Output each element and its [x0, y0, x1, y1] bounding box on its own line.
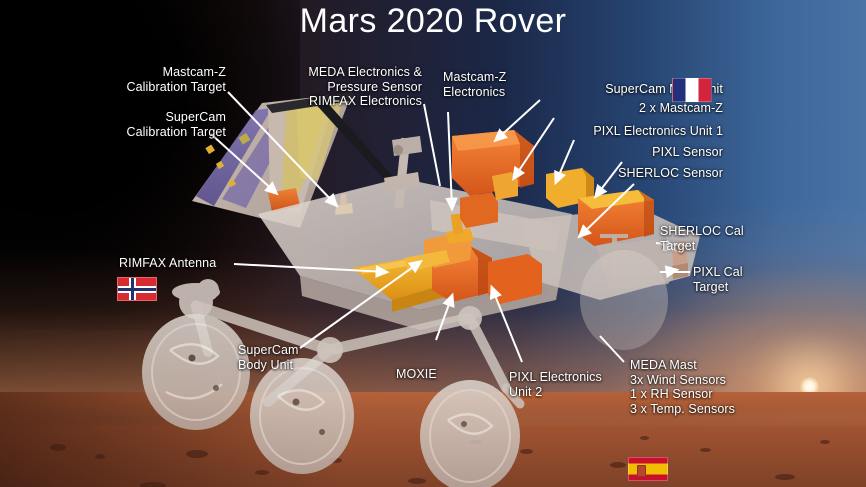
wheel-far-right: [580, 250, 668, 350]
wheel-front-left: [142, 314, 250, 430]
label-supercam-calibration-target: SuperCam Calibration Target: [60, 110, 226, 139]
page-title: Mars 2020 Rover: [0, 2, 866, 41]
label-2x-mastcam-z: 2 x Mastcam-Z: [520, 101, 723, 116]
label-meda-electronics-pressure-sensor-rimfax: MEDA Electronics & Pressure Sensor RIMFA…: [270, 65, 422, 109]
label-rimfax-antenna: RIMFAX Antenna: [119, 256, 239, 271]
label-moxie: MOXIE: [396, 367, 466, 382]
label-pixl-electronics-unit-1: PIXL Electronics Unit 1: [520, 124, 723, 139]
wheel-rear-left: [420, 380, 520, 487]
flag-spain-icon: [628, 457, 668, 481]
label-pixl-cal-target: PIXL Cal Target: [693, 265, 803, 294]
label-sherloc-cal-target: SHERLOC Cal Target: [660, 224, 780, 253]
label-supercam-body-unit: SuperCam Body Unit: [238, 343, 348, 372]
label-pixl-sensor: PIXL Sensor: [520, 145, 723, 160]
label-sherloc-sensor: SHERLOC Sensor: [520, 166, 723, 181]
wheel-middle-left: [250, 358, 354, 474]
flag-france-icon: [672, 78, 712, 102]
label-pixl-electronics-unit-2: PIXL Electronics Unit 2: [509, 370, 617, 399]
label-mastcam-z-calibration-target: Mastcam-Z Calibration Target: [60, 65, 226, 94]
flag-norway-icon: [117, 277, 157, 301]
label-meda-mast: MEDA Mast 3x Wind Sensors 1 x RH Sensor …: [630, 358, 760, 416]
mars-2020-rover-infographic: Mars 2020 Rover Mastcam-Z Calibration Ta…: [0, 0, 866, 487]
